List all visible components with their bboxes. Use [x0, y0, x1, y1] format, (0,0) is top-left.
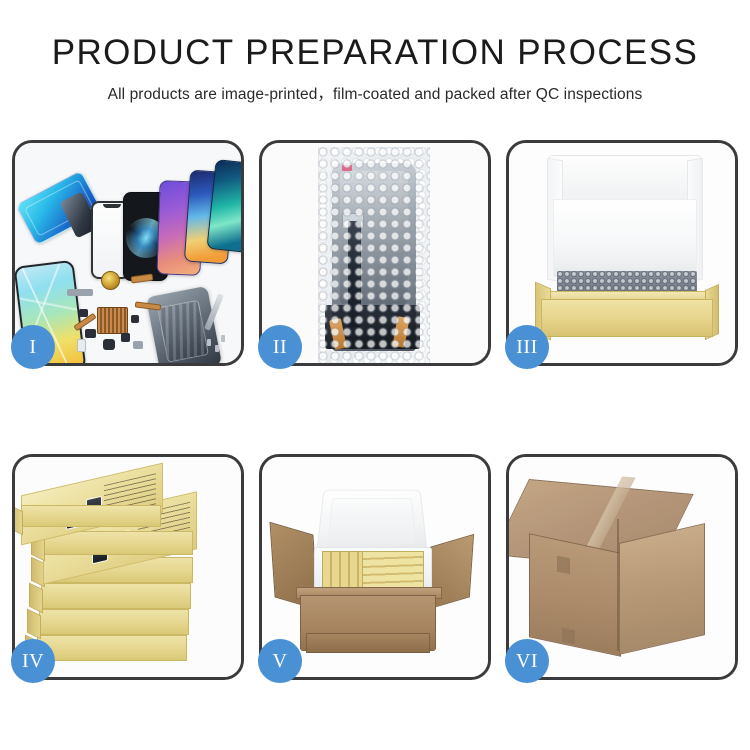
stacked-box-1 — [21, 505, 161, 527]
perforated-board-part — [97, 307, 128, 334]
step-badge-2: II — [258, 325, 302, 369]
carton-flap-tab-bottom — [562, 628, 575, 645]
stacked-box-5 — [39, 609, 189, 635]
speaker-part — [133, 341, 143, 349]
step-badge-1: I — [11, 325, 55, 369]
carton-right-face — [619, 523, 705, 655]
carton-left-face — [529, 533, 621, 657]
bubble-texture-overlay — [318, 147, 430, 363]
screw-part-1 — [207, 339, 211, 346]
camera-module-part — [103, 339, 115, 350]
inner-boxes-row-2 — [362, 551, 424, 591]
step-2-image — [262, 143, 488, 363]
step-4-image: Mobile Phone Spare Parts Mobile Phone Sp… — [15, 457, 241, 677]
step-badge-3: III — [505, 325, 549, 369]
box-side — [15, 505, 23, 536]
step-badge-5: V — [258, 639, 302, 683]
screw-part-2 — [215, 345, 219, 352]
process-step-panel-4[interactable]: Mobile Phone Spare Parts Mobile Phone Sp… — [12, 454, 244, 680]
process-step-panel-6[interactable]: VI — [506, 454, 738, 680]
sim-tray-part — [77, 339, 86, 352]
chip-part-4 — [131, 315, 139, 323]
step-5-image — [262, 457, 488, 677]
flex-cable-part-1 — [131, 274, 154, 284]
stacked-box-4 — [41, 583, 191, 609]
step-1-image — [15, 143, 241, 363]
screw-part-3 — [221, 335, 225, 342]
process-step-panel-5[interactable]: V — [259, 454, 491, 680]
metal-bracket-part — [67, 289, 93, 296]
stacked-box-6 — [37, 635, 187, 661]
inner-box-front — [541, 299, 713, 337]
step-badge-4: IV — [11, 639, 55, 683]
copper-coil-part — [101, 271, 120, 290]
page-title: PRODUCT PREPARATION PROCESS — [0, 0, 750, 73]
step-badge-6: VI — [505, 639, 549, 683]
process-step-grid: I II — [12, 140, 738, 680]
step-3-image — [509, 143, 735, 363]
chip-part-3 — [121, 333, 130, 342]
step-6-image — [509, 457, 735, 677]
carton-flap-tab-top — [557, 556, 570, 575]
product-preparation-page: PRODUCT PREPARATION PROCESS All products… — [0, 0, 750, 750]
box-side — [29, 583, 43, 614]
foam-box-lid — [316, 490, 428, 555]
page-subtitle: All products are image-printed，film-coat… — [0, 73, 750, 104]
header: PRODUCT PREPARATION PROCESS All products… — [0, 0, 750, 104]
carton-lower-wall — [306, 633, 430, 653]
chip-part-1 — [79, 309, 88, 317]
process-step-panel-3[interactable]: III — [506, 140, 738, 366]
process-step-panel-2[interactable]: II — [259, 140, 491, 366]
process-step-panel-1[interactable]: I — [12, 140, 244, 366]
box-side — [27, 609, 41, 640]
white-foam-sheet — [553, 199, 697, 277]
carton-vertical-edge — [617, 519, 619, 651]
chip-part-2 — [85, 329, 96, 338]
